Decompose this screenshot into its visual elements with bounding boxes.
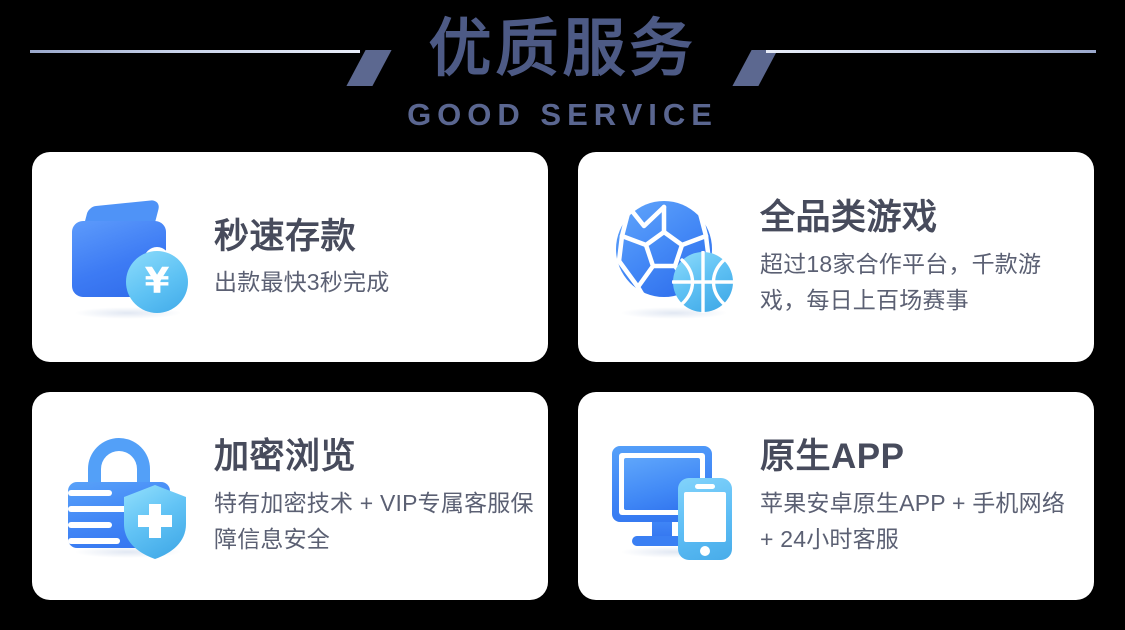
feature-card-encryption[interactable]: 加密浏览 特有加密技术 + VIP专属客服保障信息安全	[32, 392, 548, 600]
lock-shield-icon	[64, 430, 196, 562]
card-description: 苹果安卓原生APP + 手机网络 + 24小时客服	[760, 485, 1082, 557]
feature-card-grid: ¥ 秒速存款 出款最快3秒完成	[32, 152, 1094, 600]
card-text-block: 全品类游戏 超过18家合作平台，千款游戏，每日上百场赛事	[760, 197, 1094, 318]
soccer-basketball-icon	[610, 191, 742, 323]
basketball-icon	[672, 251, 734, 313]
lock-stripe-icon	[68, 538, 120, 544]
yen-coin-icon: ¥	[126, 251, 188, 313]
phone-home-button-icon	[700, 546, 710, 556]
card-text-block: 秒速存款 出款最快3秒完成	[214, 216, 548, 299]
feature-card-deposit[interactable]: ¥ 秒速存款 出款最快3秒完成	[32, 152, 548, 362]
page-title: 优质服务	[0, 9, 1125, 89]
lock-stripe-icon	[68, 506, 128, 512]
card-description: 超过18家合作平台，千款游戏，每日上百场赛事	[760, 246, 1082, 318]
monitor-phone-icon	[610, 430, 742, 562]
lock-stripe-icon	[68, 522, 112, 528]
shield-cross-icon	[122, 484, 188, 560]
yen-symbol: ¥	[144, 264, 169, 300]
wallet-coin-icon: ¥	[64, 191, 196, 323]
lock-stripe-icon	[68, 490, 112, 496]
feature-card-native-app[interactable]: 原生APP 苹果安卓原生APP + 手机网络 + 24小时客服	[578, 392, 1094, 600]
card-text-block: 加密浏览 特有加密技术 + VIP专属客服保障信息安全	[214, 436, 548, 557]
card-description: 特有加密技术 + VIP专属客服保障信息安全	[214, 485, 536, 557]
card-title: 全品类游戏	[760, 197, 1082, 239]
card-text-block: 原生APP 苹果安卓原生APP + 手机网络 + 24小时客服	[760, 436, 1094, 557]
page-subtitle: GOOD SERVICE	[0, 97, 1125, 133]
card-title: 秒速存款	[214, 216, 536, 258]
card-title: 原生APP	[760, 436, 1082, 478]
feature-card-games[interactable]: 全品类游戏 超过18家合作平台，千款游戏，每日上百场赛事	[578, 152, 1094, 362]
card-description: 出款最快3秒完成	[214, 265, 536, 299]
card-title: 加密浏览	[214, 436, 536, 478]
phone-screen-icon	[684, 492, 726, 542]
phone-speaker-icon	[695, 484, 715, 489]
page-header: 优质服务 GOOD SERVICE	[0, 0, 1125, 146]
